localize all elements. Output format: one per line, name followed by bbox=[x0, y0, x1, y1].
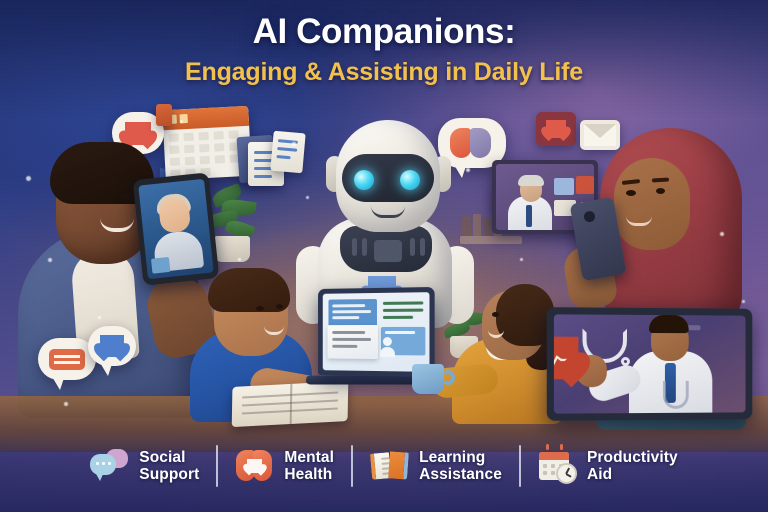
chat-bubbles-icon bbox=[90, 447, 130, 485]
heart-icon bbox=[125, 122, 151, 145]
feature-label: Productivity Aid bbox=[587, 449, 678, 484]
feature-label: Social Support bbox=[139, 449, 199, 484]
page-title: AI Companions: bbox=[0, 14, 768, 51]
feature-label: Learning Assistance bbox=[419, 449, 502, 484]
feature-social-support[interactable]: Social Support bbox=[73, 447, 216, 485]
feature-productivity-aid[interactable]: Productivity Aid bbox=[521, 447, 695, 485]
heart-icon-badge bbox=[536, 112, 576, 146]
feature-mental-health[interactable]: Mental Health bbox=[218, 447, 351, 485]
heart-rate-icon bbox=[554, 337, 579, 380]
page-subtitle: Engaging & Assisting in Daily Life bbox=[0, 58, 768, 87]
feature-learning-assistance[interactable]: Learning Assistance bbox=[353, 447, 519, 485]
brain-heart-icon bbox=[235, 447, 275, 485]
calendar-clock-icon bbox=[538, 447, 578, 485]
robot-eye-left bbox=[354, 170, 374, 190]
feature-bar: Social Support Mental Health bbox=[0, 420, 768, 512]
heart-chat-bubble bbox=[88, 326, 136, 366]
robot-eye-right bbox=[400, 170, 420, 190]
poster-title-block: AI Companions: Engaging & Assisting in D… bbox=[0, 14, 768, 87]
envelope-icon-badge bbox=[580, 120, 620, 150]
tablet-video-call[interactable] bbox=[133, 172, 220, 285]
poster-canvas: AI Companions: Engaging & Assisting in D… bbox=[0, 0, 768, 512]
open-book-icon bbox=[370, 447, 410, 485]
feature-label: Mental Health bbox=[284, 449, 334, 484]
monitor-telehealth[interactable] bbox=[547, 307, 753, 421]
